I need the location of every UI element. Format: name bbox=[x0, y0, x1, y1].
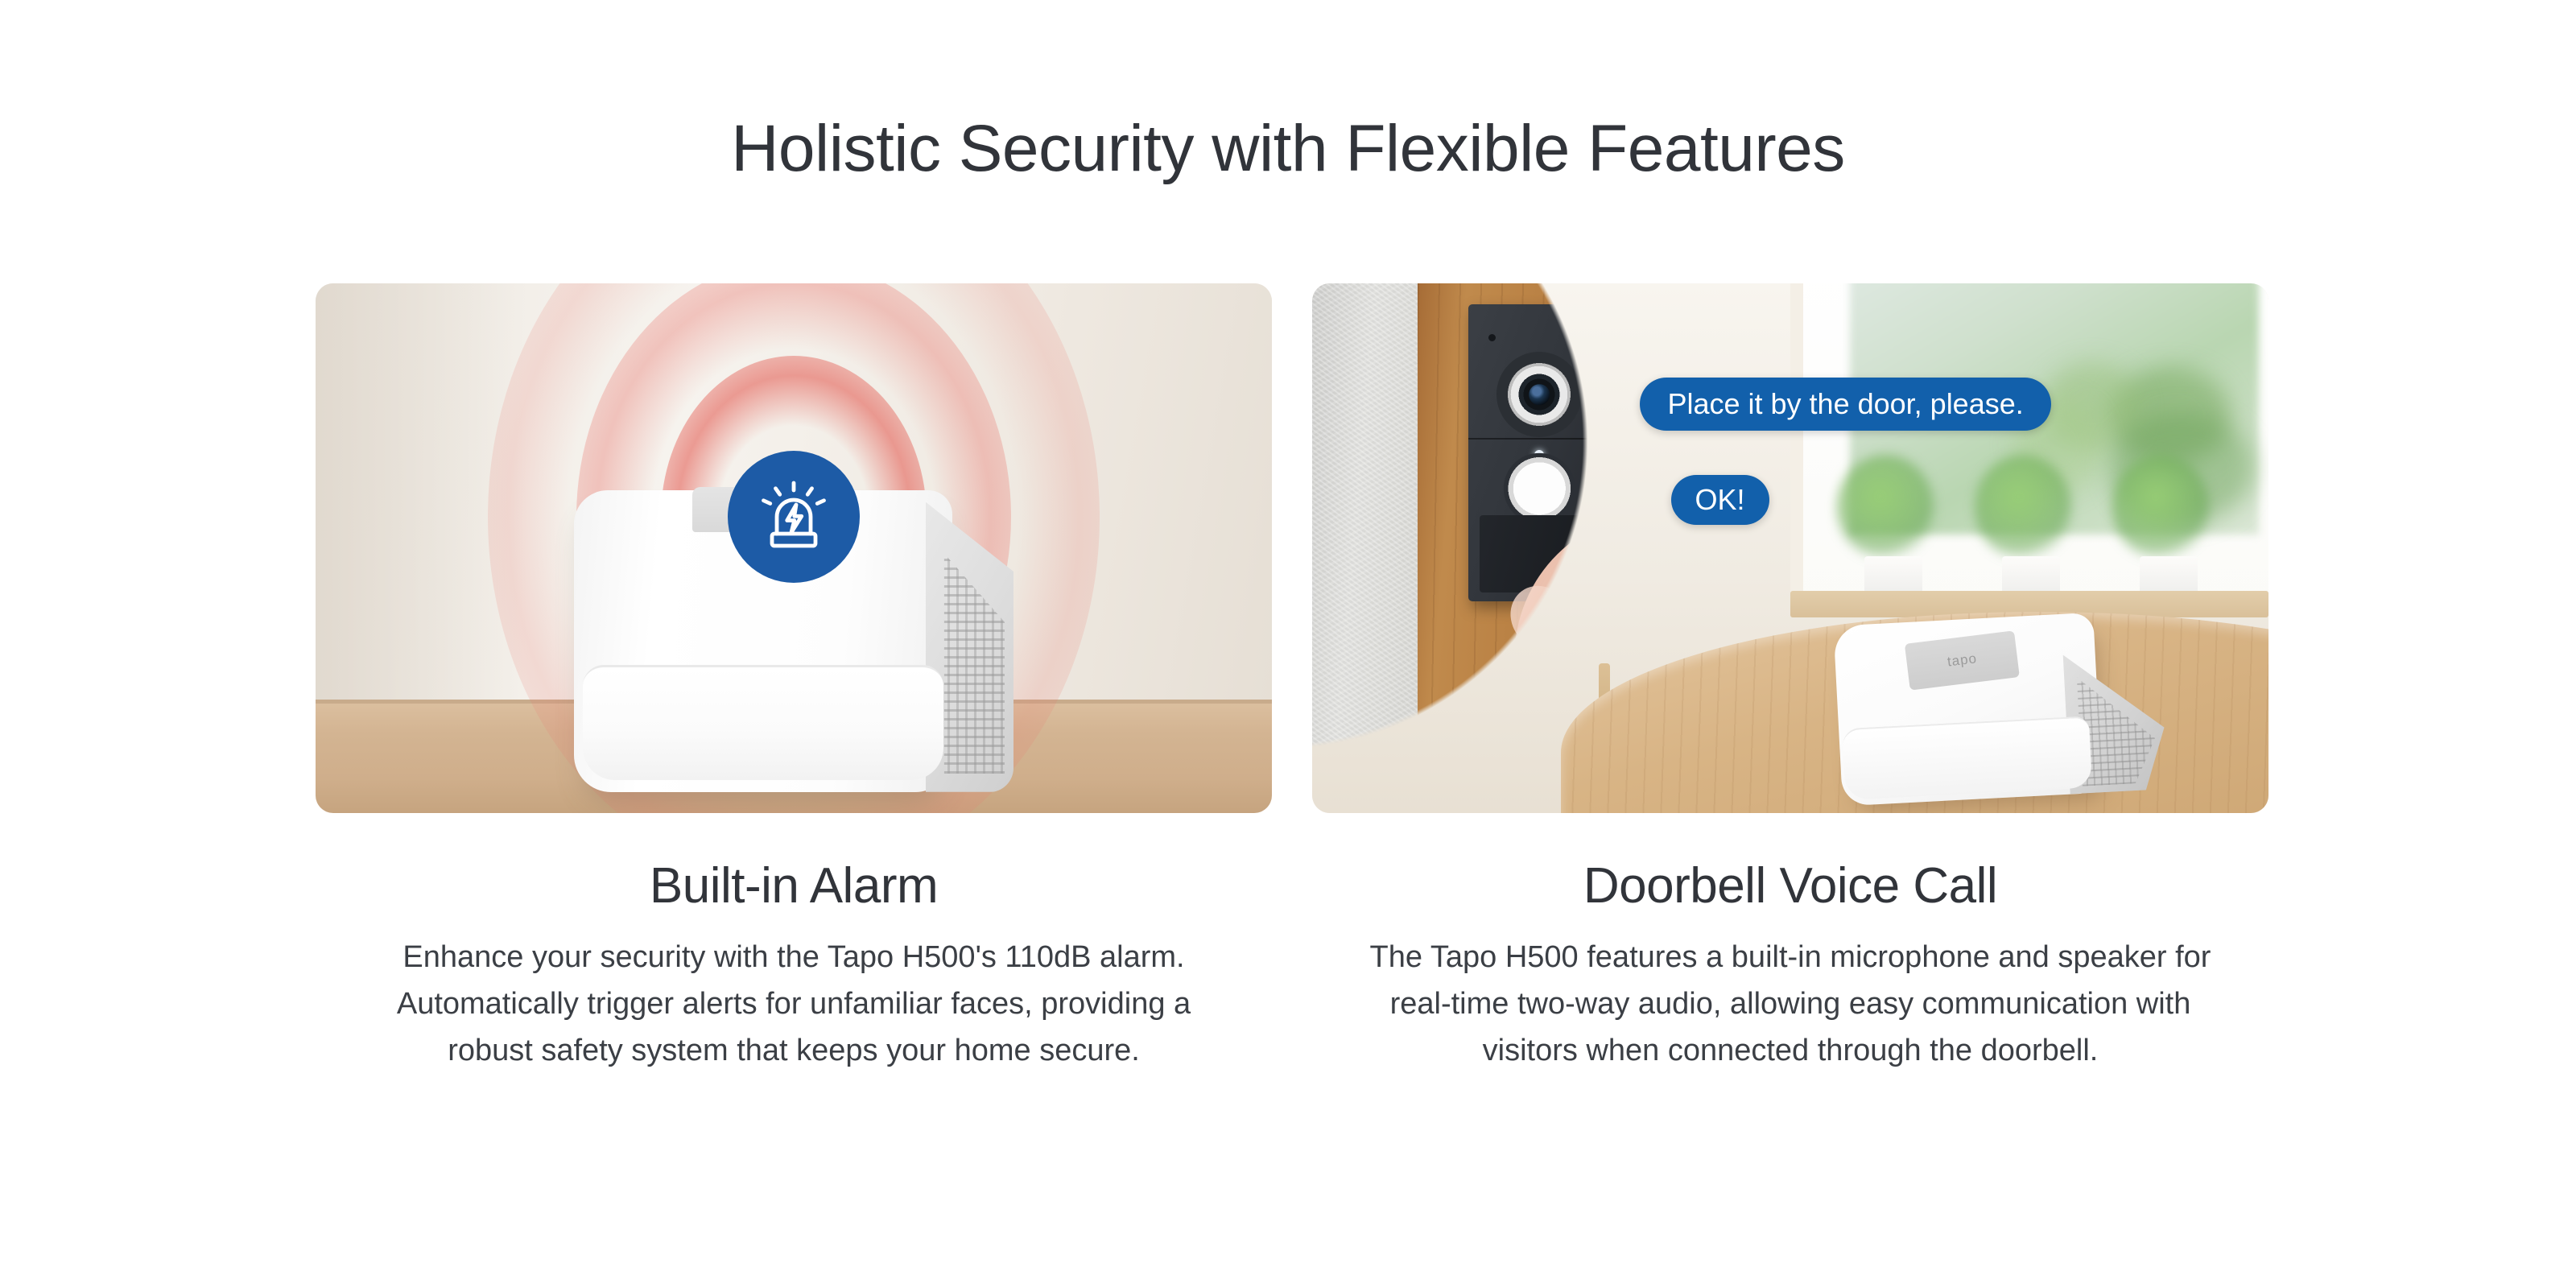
doorbell-scene: tapo bbox=[1312, 283, 2268, 813]
page-title: Holistic Security with Flexible Features bbox=[0, 113, 2576, 185]
speech-bubble-text: OK! bbox=[1695, 483, 1745, 517]
hub-front-lip bbox=[583, 665, 943, 780]
exterior-stucco-wall bbox=[1312, 283, 1418, 813]
feature-card-built-in-alarm: tapo bbox=[316, 283, 1272, 1185]
plant-foliage bbox=[2112, 455, 2209, 559]
alarm-image: tapo bbox=[316, 283, 1272, 813]
doorbell-microphone-icon bbox=[1488, 334, 1496, 341]
speech-bubble-reply-message: OK! bbox=[1671, 475, 1769, 525]
tapo-logo: tapo bbox=[1946, 650, 1978, 670]
speech-bubble-text: Place it by the door, please. bbox=[1667, 387, 2023, 421]
alarm-scene: tapo bbox=[316, 283, 1272, 813]
doorbell-seam bbox=[1468, 438, 1611, 440]
hub-front-lip bbox=[1843, 715, 2093, 799]
camera-lens-icon bbox=[1529, 385, 1550, 405]
wall-shadow bbox=[316, 283, 526, 700]
doorbell-press-button[interactable] bbox=[1504, 453, 1575, 524]
feature-title-doorbell-voice-call: Doorbell Voice Call bbox=[1312, 858, 2268, 914]
feature-body-doorbell-voice-call: The Tapo H500 features a built-in microp… bbox=[1312, 935, 2268, 1074]
plant-foliage bbox=[1975, 455, 2071, 559]
tapo-hub-device: tapo bbox=[1834, 609, 2168, 806]
speech-bubble-visitor-message: Place it by the door, please. bbox=[1640, 378, 2050, 431]
plant-foliage bbox=[1837, 455, 1934, 559]
feature-section: Holistic Security with Flexible Features bbox=[0, 0, 2576, 1288]
doorbell-image: tapo bbox=[1312, 283, 2268, 813]
feature-card-doorbell-voice-call: tapo bbox=[1312, 283, 2268, 1185]
siren-alarm-icon bbox=[728, 451, 860, 583]
doorbell-camera-ring bbox=[1496, 352, 1582, 437]
feature-body-built-in-alarm: Enhance your security with the Tapo H500… bbox=[316, 935, 1272, 1074]
feature-title-built-in-alarm: Built-in Alarm bbox=[316, 858, 1272, 914]
doorbell-inset-photo bbox=[1312, 283, 1771, 813]
feature-columns: tapo bbox=[316, 283, 2268, 1185]
doorbell-photo bbox=[1312, 283, 1771, 813]
